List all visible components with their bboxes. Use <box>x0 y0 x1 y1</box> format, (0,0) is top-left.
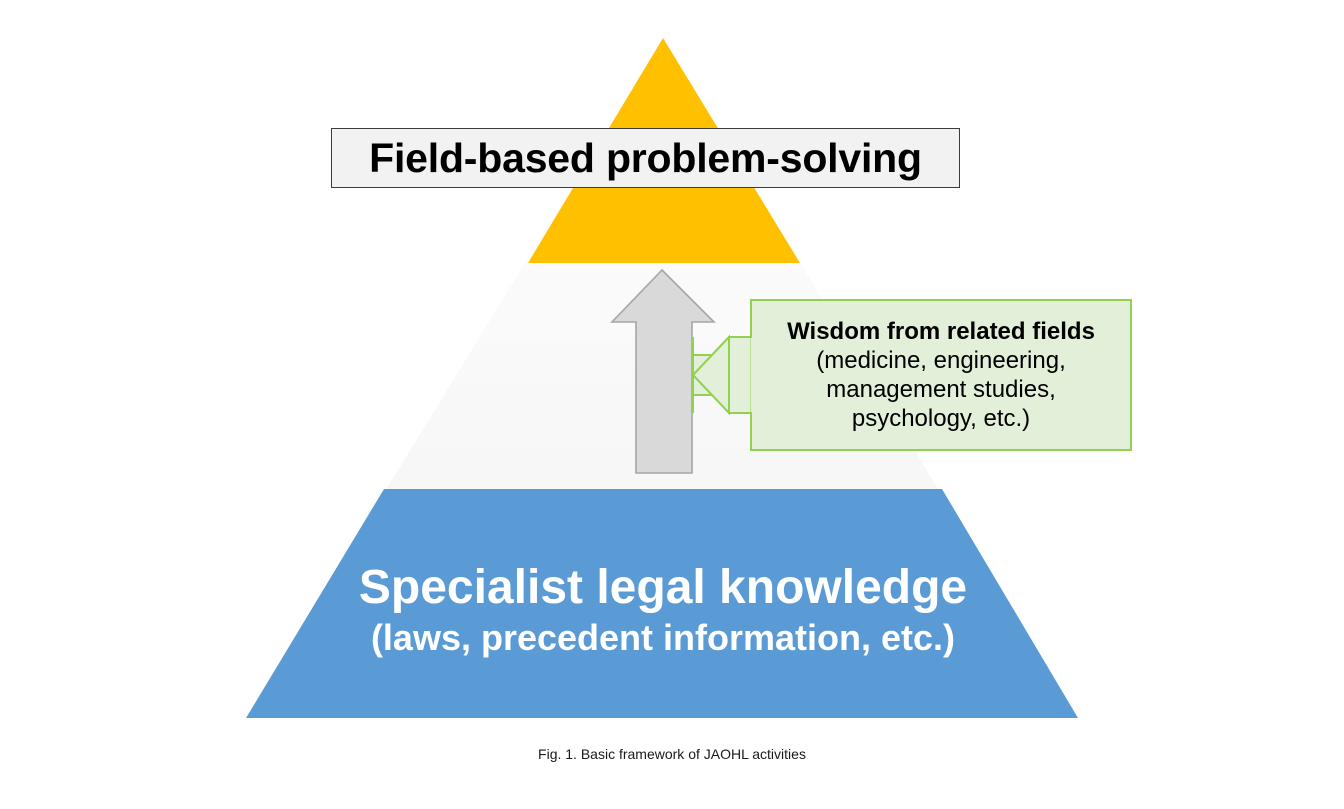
callout-title: Wisdom from related fields <box>787 317 1095 346</box>
callout-line-1: (medicine, engineering, <box>816 346 1065 375</box>
callout-line-3: psychology, etc.) <box>852 404 1030 433</box>
base-title: Specialist legal knowledge <box>359 560 967 616</box>
apex-label-box: Field-based problem-solving <box>331 128 960 188</box>
callout-text-block: Wisdom from related fields (medicine, en… <box>751 300 1131 450</box>
apex-label-text: Field-based problem-solving <box>369 138 922 179</box>
callout-line-2: management studies, <box>826 375 1055 404</box>
figure-canvas <box>0 0 1344 809</box>
base-text-block: Specialist legal knowledge (laws, preced… <box>247 560 1079 660</box>
base-subtitle: (laws, precedent information, etc.) <box>371 616 955 660</box>
figure-root: Field-based problem-solving Wisdom from … <box>0 0 1344 809</box>
figure-caption: Fig. 1. Basic framework of JAOHL activit… <box>0 746 1344 762</box>
